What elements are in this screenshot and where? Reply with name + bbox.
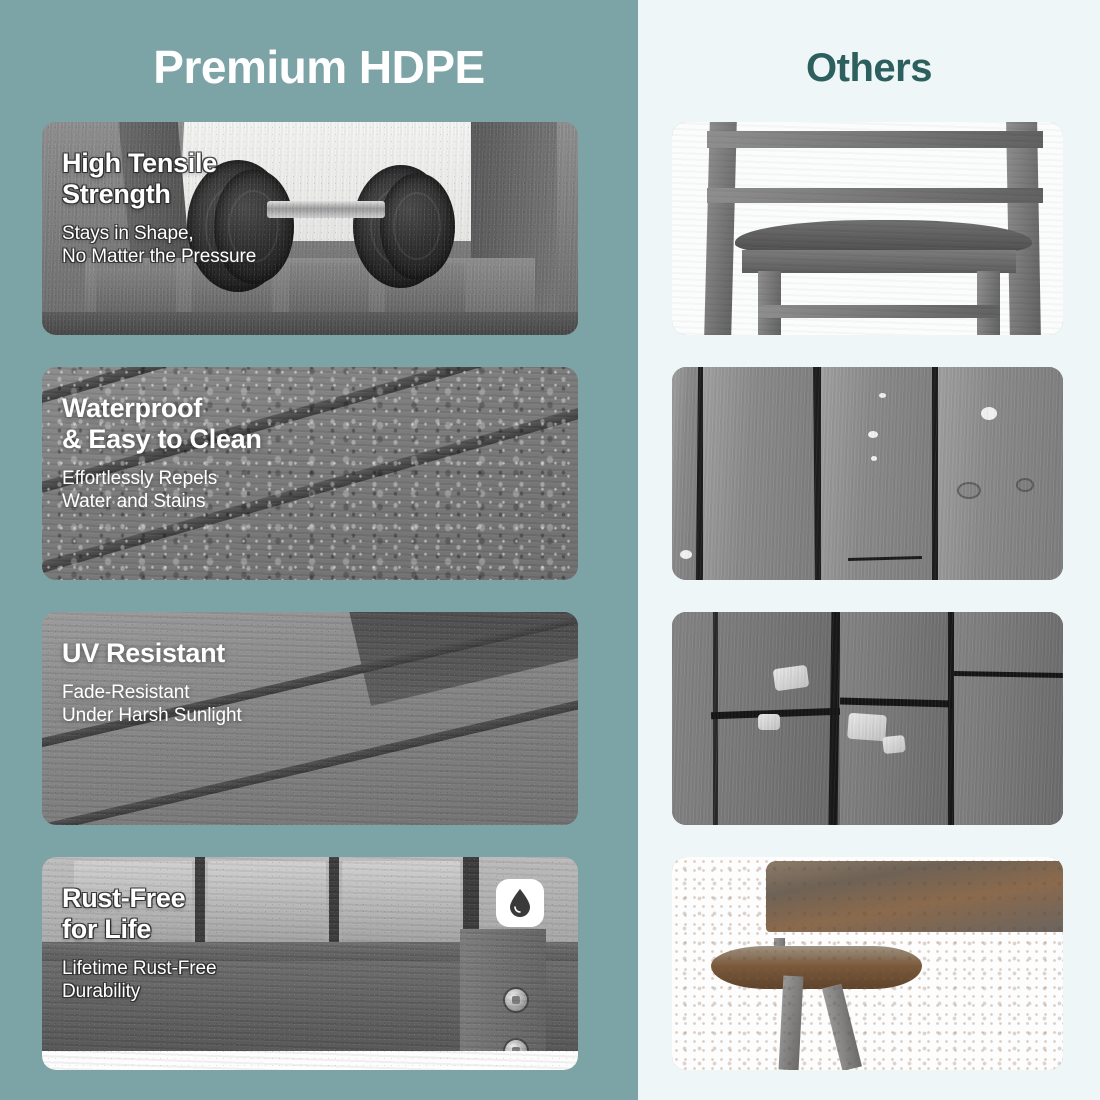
left-column-header: Premium HDPE [0,0,638,90]
others-card-worn-chair [672,122,1063,335]
water-drop-icon [507,888,533,918]
others-card-rusted-chair [672,857,1063,1070]
card-title: Waterproof & Easy to Clean [62,393,262,455]
card-subtitle: Stays in Shape, No Matter the Pressure [62,222,256,268]
feature-card-uv-resistant: UV Resistant Fade-Resistant Under Harsh … [42,612,578,825]
worn-gray-wooden-chair-image [672,122,1063,335]
card-text-overlay: Rust-Free for Life Lifetime Rust-Free Du… [62,883,216,1003]
rusted-weathered-chair-armrest-image [672,857,1063,1070]
card-text-overlay: UV Resistant Fade-Resistant Under Harsh … [62,638,242,727]
card-title: High Tensile Strength [62,148,256,210]
card-subtitle: Fade-Resistant Under Harsh Sunlight [62,681,242,727]
feature-card-waterproof-easy-to-clean: Waterproof & Easy to Clean Effortlessly … [42,367,578,580]
card-title: Rust-Free for Life [62,883,216,945]
cracked-and-peeling-painted-wood-image [672,612,1063,825]
premium-hdpe-column: Premium HDPE [0,0,638,1100]
right-card-stack [672,122,1063,1070]
others-card-cracked-peeling-wood [672,612,1063,825]
others-column: Others [638,0,1100,1100]
left-card-stack: High Tensile Strength Stays in Shape, No… [42,122,578,1070]
card-subtitle: Effortlessly Repels Water and Stains [62,467,262,513]
feature-card-high-tensile-strength: High Tensile Strength Stays in Shape, No… [42,122,578,335]
gray-painted-planks-with-chipped-paint-image [672,367,1063,580]
hdpe-vs-others-comparison-infographic: Premium HDPE [0,0,1100,1100]
card-subtitle: Lifetime Rust-Free Durability [62,957,216,1003]
right-column-header: Others [638,0,1100,88]
card-text-overlay: High Tensile Strength Stays in Shape, No… [62,148,256,268]
others-card-chipped-painted-planks [672,367,1063,580]
feature-card-rust-free-for-life: Rust-Free for Life Lifetime Rust-Free Du… [42,857,578,1070]
card-text-overlay: Waterproof & Easy to Clean Effortlessly … [62,393,262,513]
card-title: UV Resistant [62,638,242,669]
waterproof-badge [496,879,544,927]
